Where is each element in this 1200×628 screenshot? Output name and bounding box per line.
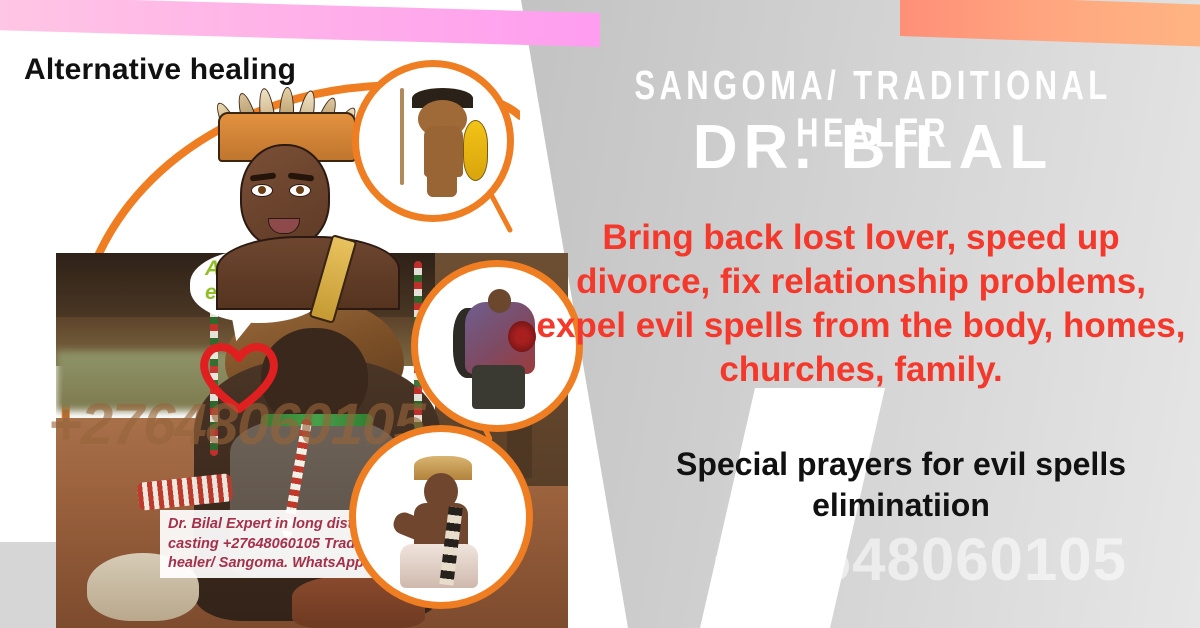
- phone-watermark: +27648060105: [640, 525, 1200, 594]
- poster-canvas: Alternative healing: [0, 0, 1200, 628]
- healer-name: Dr. Bilal: [566, 112, 1180, 183]
- page-title: Alternative healing: [24, 53, 296, 87]
- circle-crouching-warrior: [349, 425, 533, 609]
- photo-watermark-phone: +27648060105: [48, 391, 425, 458]
- pink-accent-bar: [0, 0, 600, 47]
- services-text: Bring back lost lover, speed up divorce,…: [536, 216, 1186, 392]
- circle-zulu-warrior: [352, 60, 514, 222]
- offer-text: Special prayers for evil spells eliminat…: [616, 444, 1186, 526]
